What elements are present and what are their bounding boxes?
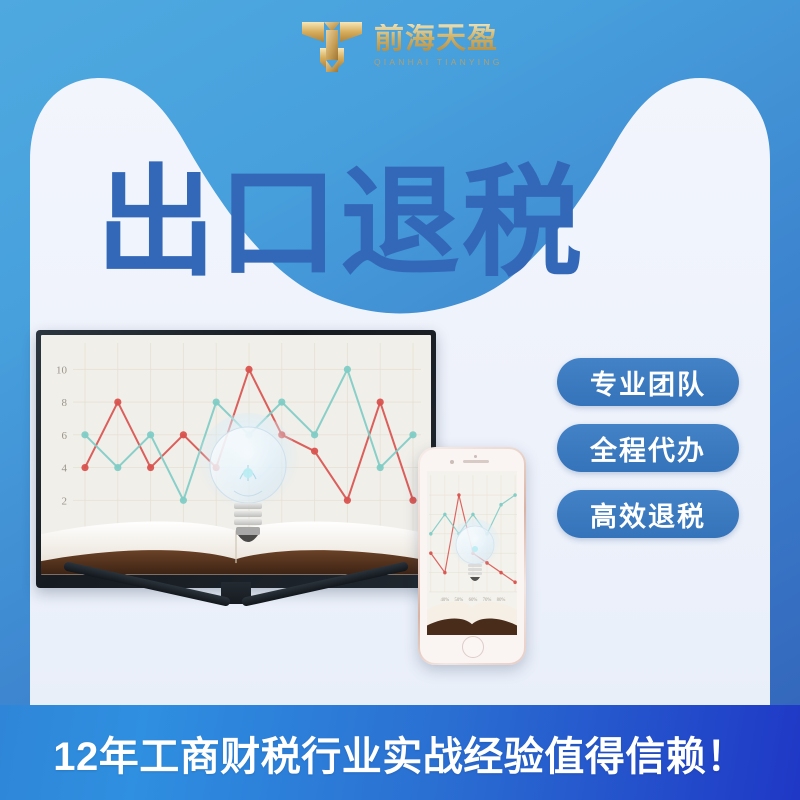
brand-name-cn: 前海天盈 — [374, 24, 503, 54]
poster-canvas: 前海天盈 QIANHAI TIANYING 出口退税 024681010%20%… — [0, 0, 800, 800]
feature-pill-professional-team[interactable]: 专业团队 — [557, 358, 739, 406]
phone-home-button[interactable] — [462, 636, 484, 658]
monitor-screen: 024681010%20%30%40%50%60%70%80%90%100% — [41, 335, 431, 575]
svg-text:50%: 50% — [455, 598, 464, 603]
feature-pill-list: 专业团队 全程代办 高效退税 — [557, 358, 739, 538]
phone-line-chart: 40%50%60%70%80% — [427, 471, 517, 635]
phone-camera-icon — [450, 460, 454, 464]
svg-text:10: 10 — [56, 364, 68, 376]
svg-text:8: 8 — [62, 397, 68, 409]
desktop-monitor: 024681010%20%30%40%50%60%70%80%90%100% — [36, 330, 436, 600]
svg-text:20%: 20% — [141, 542, 161, 554]
feature-pill-label: 全程代办 — [590, 429, 706, 468]
phone-speaker-icon — [463, 460, 489, 463]
qianhai-tianying-logo-icon — [300, 16, 364, 74]
svg-text:10%: 10% — [108, 542, 128, 554]
svg-text:40%: 40% — [440, 598, 449, 603]
svg-text:6: 6 — [62, 430, 68, 442]
smartphone: 40%50%60%70%80% — [418, 447, 526, 665]
svg-text:60%: 60% — [272, 542, 292, 554]
svg-text:60%: 60% — [469, 598, 478, 603]
brand-name-en: QIANHAI TIANYING — [374, 58, 503, 67]
feature-pill-label: 高效退税 — [590, 495, 706, 534]
svg-text:0: 0 — [62, 528, 68, 540]
svg-text:90%: 90% — [370, 542, 390, 554]
svg-text:40%: 40% — [206, 542, 226, 554]
svg-text:70%: 70% — [305, 542, 325, 554]
brand-logo: 前海天盈 QIANHAI TIANYING — [300, 14, 530, 76]
bottom-banner: 12年工商财税行业实战经验值得信赖！ — [0, 705, 800, 800]
bottom-banner-text: 12年工商财税行业实战经验值得信赖！ — [53, 724, 747, 782]
phone-body: 40%50%60%70%80% — [420, 449, 524, 663]
svg-text:80%: 80% — [497, 598, 506, 603]
phone-sensor-icon — [474, 455, 477, 458]
line-chart: 024681010%20%30%40%50%60%70%80%90%100% — [41, 335, 431, 575]
feature-pill-efficient-refund[interactable]: 高效退税 — [557, 490, 739, 538]
svg-text:4: 4 — [62, 463, 68, 475]
svg-text:30%: 30% — [173, 542, 193, 554]
svg-text:2: 2 — [62, 495, 68, 507]
svg-text:80%: 80% — [337, 542, 357, 554]
phone-screen: 40%50%60%70%80% — [427, 471, 517, 635]
feature-pill-label: 专业团队 — [590, 363, 706, 402]
monitor-bezel: 024681010%20%30%40%50%60%70%80%90%100% — [36, 330, 436, 588]
feature-pill-full-service[interactable]: 全程代办 — [557, 424, 739, 472]
page-title: 出口退税 — [96, 163, 584, 283]
svg-text:70%: 70% — [483, 598, 492, 603]
svg-text:50%: 50% — [239, 542, 259, 554]
